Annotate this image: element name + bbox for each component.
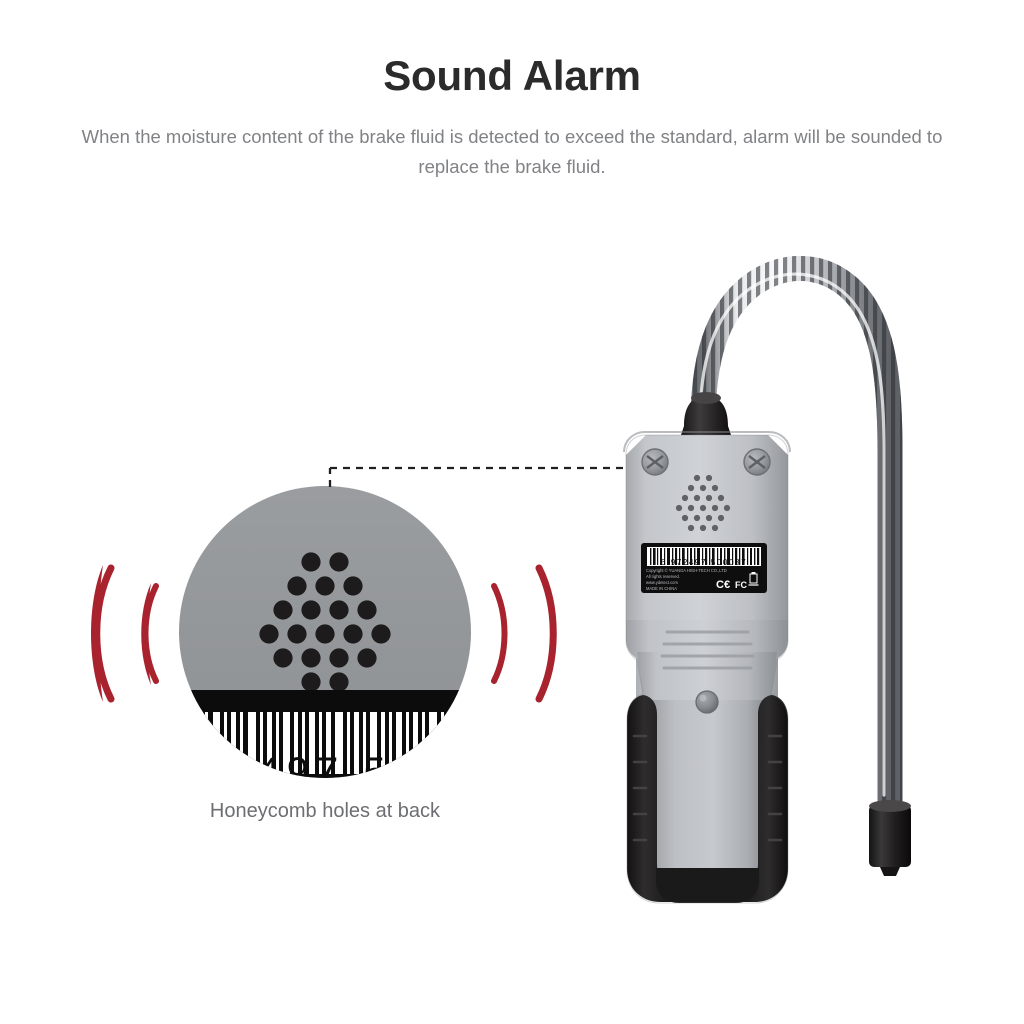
label-line: All rights reserved. [646, 574, 680, 579]
ce-mark: C€ [716, 579, 730, 591]
rubber-grommet [679, 392, 733, 441]
label-barcode-digits: 6 972497 500087 [661, 558, 747, 567]
power-button [696, 691, 718, 713]
label-line: www.ydetect.com [646, 580, 678, 585]
brake-fluid-tester-device: 6 972497 500087 Copyright © YUANGA HIGH-… [624, 268, 911, 903]
callout-caption: Honeycomb holes at back [130, 800, 520, 823]
product-illustration: 2497 50 [0, 0, 1024, 1024]
housing-screw-left [642, 449, 668, 475]
callout-leader-line [330, 468, 646, 487]
barcode-digits-magnified: 2497 50 [228, 750, 422, 794]
grip-bottom-cap [656, 868, 759, 903]
label-line: Copyright © YUANGA HIGH-TECH CO.,LTD [646, 568, 727, 573]
label-line: MADE IN CHINA [646, 586, 677, 591]
magnifier-callout: 2497 50 [170, 486, 480, 794]
product-label: 6 972497 500087 Copyright © YUANGA HIGH-… [641, 543, 767, 593]
housing-screw-right [744, 449, 770, 475]
fcc-mark: FC [735, 580, 747, 590]
probe-tip [869, 800, 911, 876]
